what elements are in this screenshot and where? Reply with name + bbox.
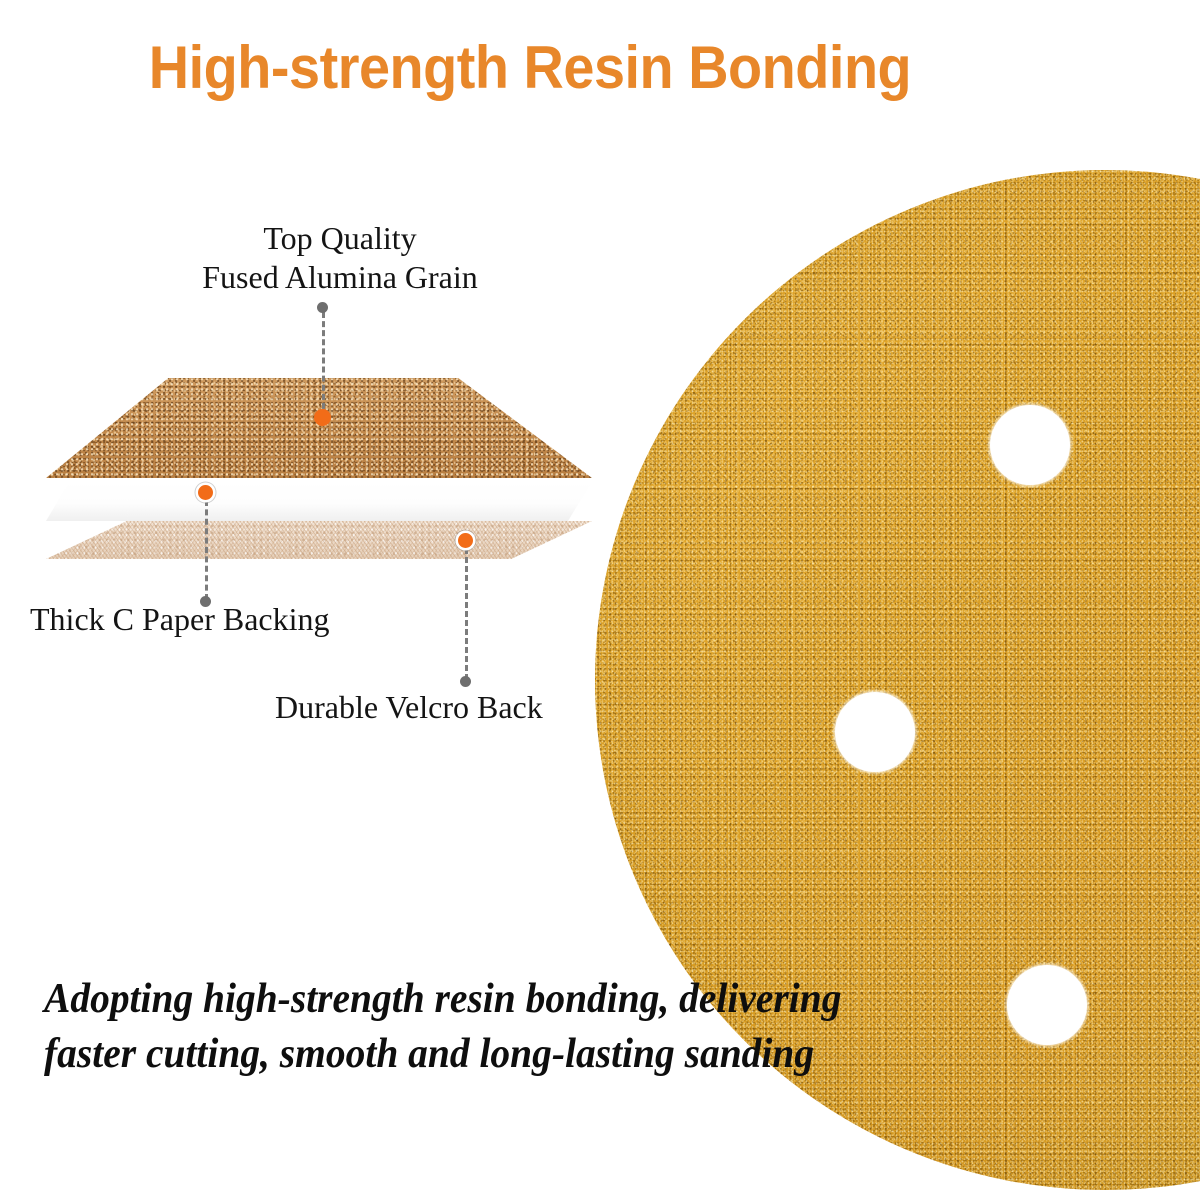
label-velcro-back: Durable Velcro Back: [275, 688, 695, 727]
leader-line-velcro: [465, 548, 468, 680]
label-grain: Top Quality Fused Alumina Grain: [130, 219, 550, 297]
label-paper-backing: Thick C Paper Backing: [30, 600, 460, 639]
velcro-backing-layer: [46, 521, 592, 559]
grit-layer: [46, 378, 592, 478]
callout-dot-velcro: [458, 533, 473, 548]
callout-dot-grain: [314, 409, 331, 426]
leader-line-paper: [205, 500, 208, 600]
dust-hole-bottom: [1007, 965, 1087, 1045]
callout-dot-paper: [198, 485, 213, 500]
leader-line-grain: [322, 312, 325, 418]
dust-hole-middle: [835, 692, 915, 772]
dust-hole-top: [990, 405, 1070, 485]
leader-endpoint-velcro: [460, 676, 471, 687]
leader-endpoint-grain: [317, 302, 328, 313]
caption-text: Adopting high-strength resin bonding, de…: [44, 972, 993, 1081]
paper-backing-layer: [46, 481, 592, 521]
infographic-canvas: High-strength Resin Bonding Top Quality …: [0, 0, 1200, 1200]
